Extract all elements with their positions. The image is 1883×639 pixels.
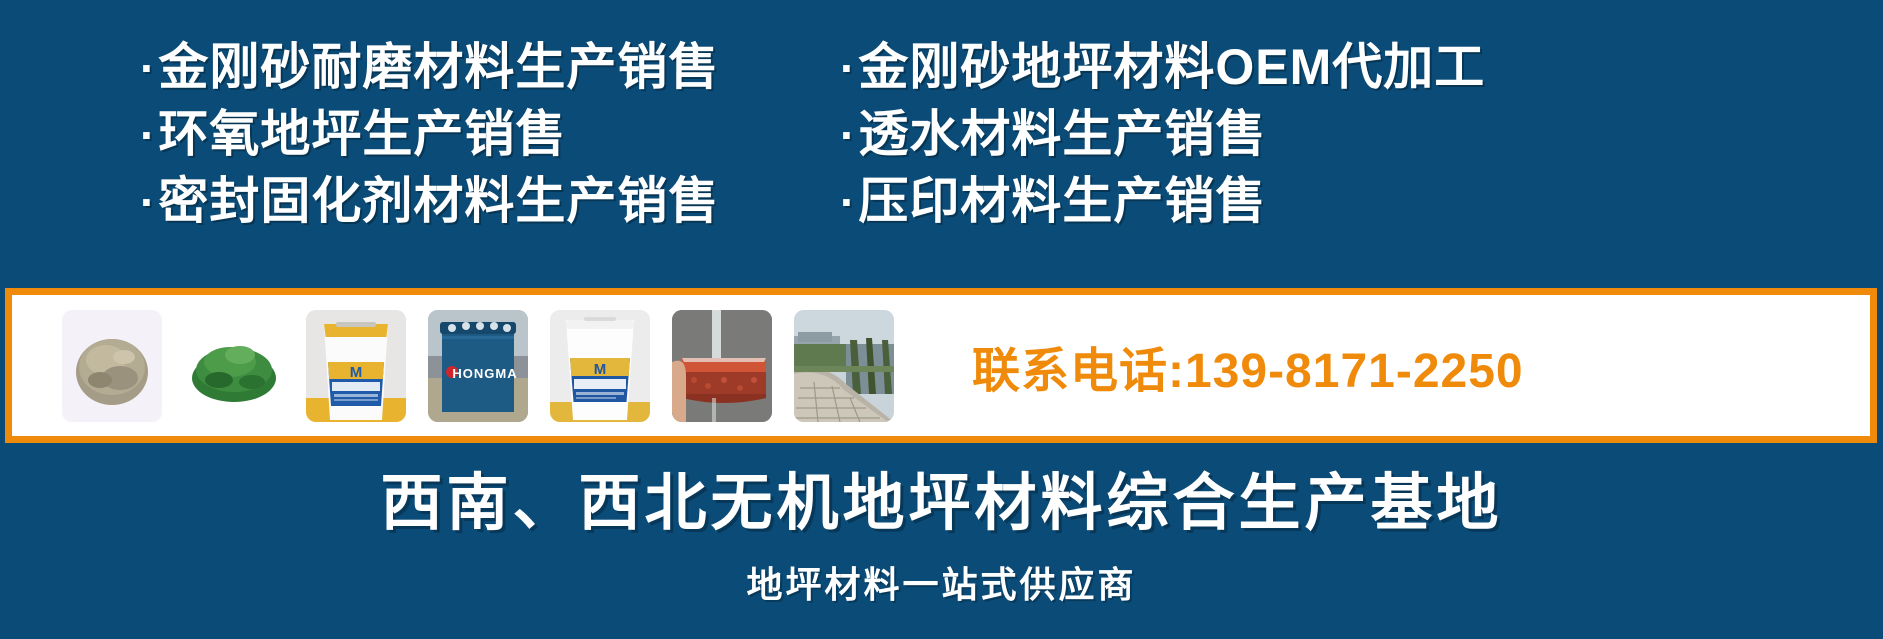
product-thumbnail-green-powder [184,310,284,422]
bullet-icon: · [840,169,856,235]
feature-label: 环氧地坪生产销售 [158,101,566,167]
feature-list: · 金刚砂耐磨材料生产销售 · 环氧地坪生产销售 · 密封固化剂材料生产销售 ·… [0,34,1883,284]
feature-item: · 金刚砂地坪材料OEM代加工 [840,34,1480,101]
bullet-icon: · [840,35,856,101]
feature-item: · 金刚砂耐磨材料生产销售 [140,34,720,101]
feature-item: · 透水材料生产销售 [840,101,1480,168]
grey-powder-icon [62,310,162,422]
product-strip: M [5,288,1877,443]
product-thumbnail-grey-powder [62,310,162,422]
feature-label: 金刚砂地坪材料OEM代加工 [858,34,1485,100]
feature-label: 密封固化剂材料生产销售 [158,168,719,234]
feature-label: 透水材料生产销售 [858,101,1266,167]
epoxy-pail-icon: M [550,310,650,422]
svg-text:M: M [594,361,607,378]
feature-column-right: · 金刚砂地坪材料OEM代加工 · 透水材料生产销售 · 压印材料生产销售 [720,34,1480,235]
feature-column-left: · 金刚砂耐磨材料生产销售 · 环氧地坪生产销售 · 密封固化剂材料生产销售 [0,34,720,235]
product-thumbnail-sealer-pail: M [306,310,406,422]
product-thumbnail-permeable-concrete [672,310,772,422]
product-thumbnail-hongma-drum: HONGMA [428,310,528,422]
bullet-icon: · [140,102,156,168]
footer-subline: 地坪材料一站式供应商 [0,556,1883,608]
svg-text:HONGMA: HONGMA [452,366,517,381]
product-thumbnail-list: M [12,310,894,422]
permeable-concrete-icon [672,310,772,422]
hongma-drum-icon: HONGMA [428,310,528,422]
svg-text:M: M [350,364,363,381]
contact-phone[interactable]: 联系电话:139-8171-2250 [972,331,1524,401]
promotional-banner: · 金刚砂耐磨材料生产销售 · 环氧地坪生产销售 · 密封固化剂材料生产销售 ·… [0,0,1883,639]
green-powder-icon [184,310,284,422]
sealer-pail-icon: M [306,310,406,422]
bullet-icon: · [840,102,856,168]
feature-item: · 环氧地坪生产销售 [140,101,720,168]
bullet-icon: · [140,35,156,101]
feature-label: 压印材料生产销售 [858,168,1266,234]
stamped-path-icon [794,310,894,422]
feature-item: · 密封固化剂材料生产销售 [140,168,720,235]
product-thumbnail-epoxy-pail: M [550,310,650,422]
bullet-icon: · [140,169,156,235]
product-thumbnail-stamped-path [794,310,894,422]
footer-headline: 西南、西北无机地坪材料综合生产基地 [0,452,1883,542]
feature-item: · 压印材料生产销售 [840,168,1480,235]
feature-label: 金刚砂耐磨材料生产销售 [158,34,719,100]
